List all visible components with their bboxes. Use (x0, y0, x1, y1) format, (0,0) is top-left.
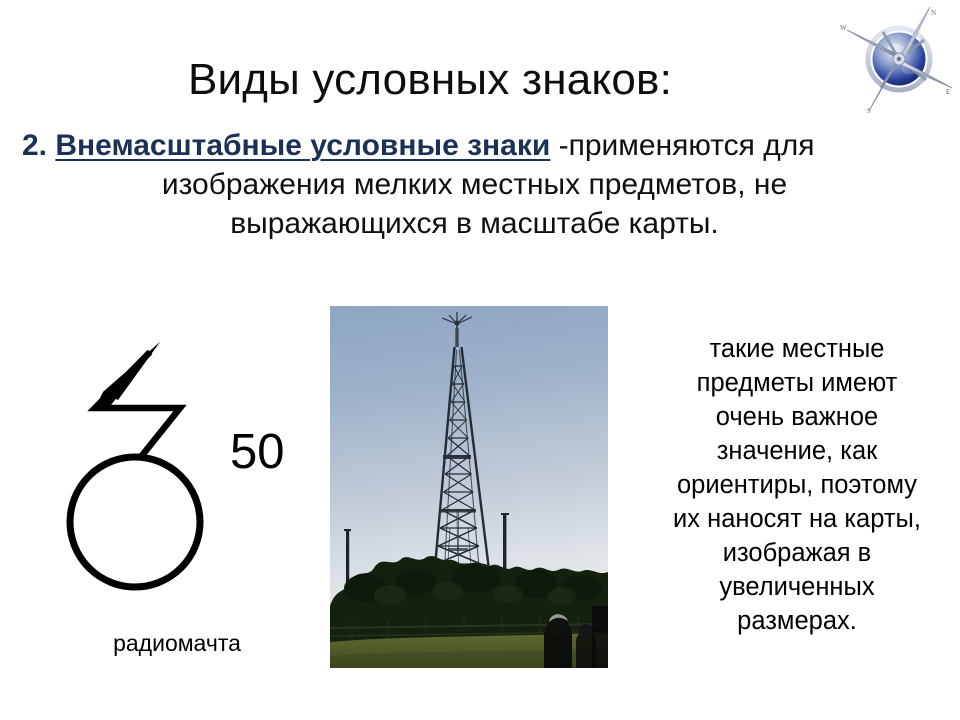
right-text-line: такие местные (644, 332, 950, 366)
compass-label-s: S (867, 107, 871, 114)
symbol-height-value: 50 (230, 428, 285, 477)
list-number: 2. (22, 129, 47, 162)
right-text-line: очень важное (644, 400, 950, 434)
paragraph-line-2: изображения мелких местных предметов, не (22, 165, 927, 204)
paragraph-line-1: 2. Внемасштабные условные знаки -применя… (22, 126, 927, 165)
keyword-term: Внемасштабные условные знаки (55, 129, 550, 162)
paragraph-line-1-tail: -применяются для (550, 129, 814, 162)
body-paragraph: 2. Внемасштабные условные знаки -применя… (22, 126, 927, 243)
right-text-line: размерах. (644, 604, 950, 638)
right-text-line: изображая в (644, 536, 950, 570)
paragraph-line-3: выражающихся в масштабе карты. (22, 204, 927, 243)
right-text-line: предметы имеют (644, 366, 950, 400)
right-text-line: значение, как (644, 434, 950, 468)
right-caption-text: такие местные предметы имеют очень важно… (644, 332, 950, 638)
compass-label-n: N (931, 9, 936, 17)
radio-mast-symbol-block: 50 радиомачта (62, 330, 342, 680)
radio-tower-photograph (330, 306, 608, 668)
compass-label-w: W (840, 24, 847, 32)
right-text-line: увеличенных (644, 570, 950, 604)
compass-label-e: E (946, 88, 950, 96)
slide-canvas: N E S W Виды условных знаков: 2. Внемасш… (0, 0, 960, 720)
symbol-caption: радиомачта (62, 630, 292, 657)
right-text-line: их наносят на карты, (644, 502, 950, 536)
right-text-line: ориентиры, поэтому (644, 468, 950, 502)
radio-mast-map-symbol-icon (62, 330, 292, 630)
page-title: Виды условных знаков: (0, 54, 860, 106)
